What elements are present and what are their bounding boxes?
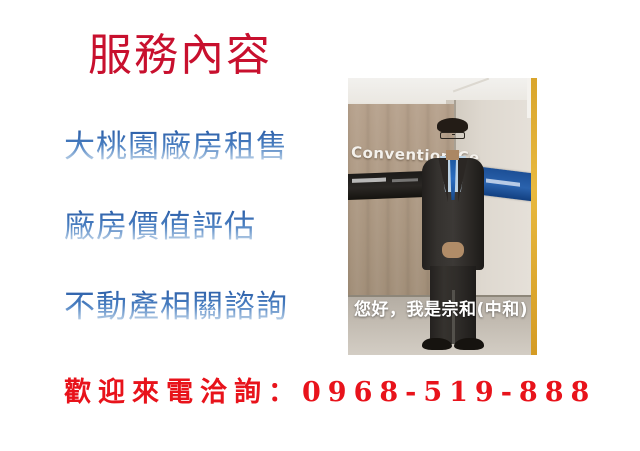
counter-highlight-left xyxy=(352,178,386,183)
contact-phone-line: 歡迎來電洽詢：0968-519-888 xyxy=(64,370,596,409)
person-shoe-left xyxy=(422,338,452,350)
glasses-icon xyxy=(440,132,465,139)
agent-photo: Convention Ce 您好，我是宗和 xyxy=(348,78,537,355)
page-title: 服務內容 xyxy=(88,33,272,79)
person-shoe-right xyxy=(454,338,484,350)
photo-caption: 您好，我是宗和(中和) xyxy=(354,295,528,320)
service-item-1: 大桃園廠房租售 xyxy=(64,130,288,164)
person-hair xyxy=(437,118,468,133)
service-item-3: 不動產相關諮詢 xyxy=(64,290,288,324)
person-hands xyxy=(442,242,464,258)
photo-accent-strip xyxy=(531,78,537,355)
ceiling-light-streak xyxy=(453,78,489,92)
service-item-2: 廠房價值評估 xyxy=(64,210,256,244)
slide-canvas: 服務內容 大桃園廠房租售 廠房價值評估 不動產相關諮詢 歡迎來電洽詢：0968-… xyxy=(0,0,640,451)
